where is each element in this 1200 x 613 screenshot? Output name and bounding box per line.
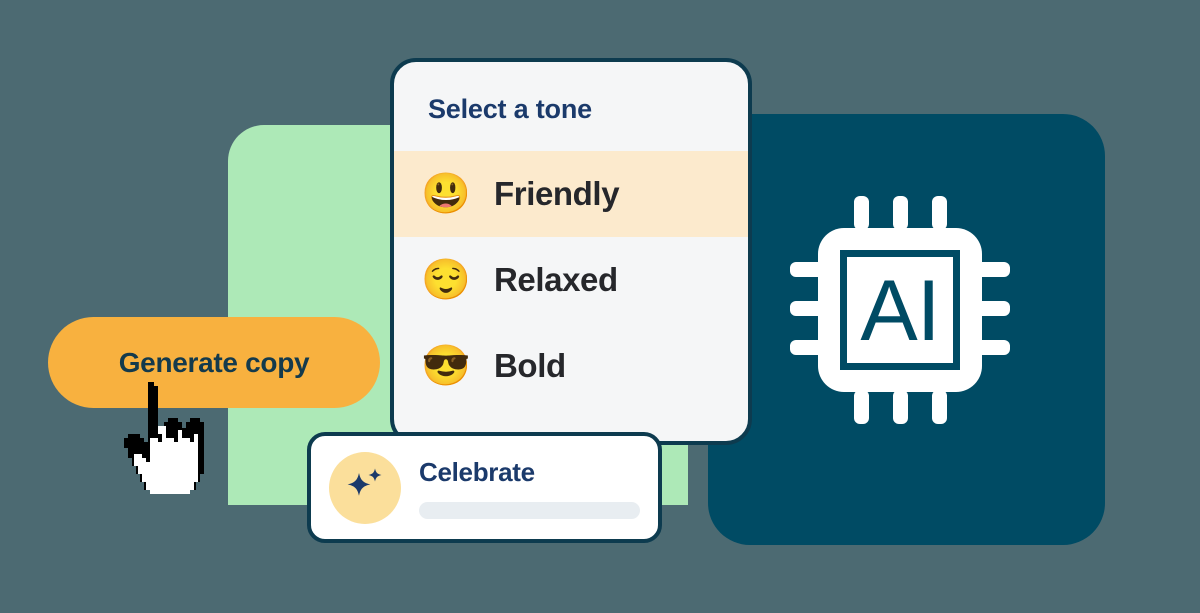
tone-card-title: Select a tone <box>394 62 748 125</box>
tone-option-label: Bold <box>494 347 566 385</box>
generate-copy-label: Generate copy <box>119 347 310 379</box>
tone-option-label: Friendly <box>494 175 619 213</box>
ai-chip-icon: AI <box>790 196 1010 424</box>
tone-selector-card: Select a tone 😃 Friendly 😌 Relaxed 😎 Bol… <box>390 58 752 445</box>
tone-option-friendly[interactable]: 😃 Friendly <box>394 151 748 237</box>
illustration-canvas: AI Generate copy Select a tone 😃 <box>0 0 1200 613</box>
relieved-face-emoji: 😌 <box>418 260 474 300</box>
celebrate-card[interactable]: Celebrate <box>307 432 662 543</box>
sparkles-icon <box>329 452 401 524</box>
generate-copy-button[interactable]: Generate copy <box>48 317 380 408</box>
smiling-face-with-sunglasses-emoji: 😎 <box>418 346 474 386</box>
tone-option-list: 😃 Friendly 😌 Relaxed 😎 Bold <box>394 151 748 409</box>
celebrate-card-body: Celebrate <box>419 457 658 519</box>
tone-option-relaxed[interactable]: 😌 Relaxed <box>394 237 748 323</box>
tone-option-label: Relaxed <box>494 261 618 299</box>
svg-text:AI: AI <box>860 263 939 359</box>
celebrate-card-title: Celebrate <box>419 457 640 488</box>
celebrate-placeholder-bar <box>419 502 640 519</box>
tone-option-bold[interactable]: 😎 Bold <box>394 323 748 409</box>
grinning-face-with-big-eyes-emoji: 😃 <box>418 174 474 214</box>
